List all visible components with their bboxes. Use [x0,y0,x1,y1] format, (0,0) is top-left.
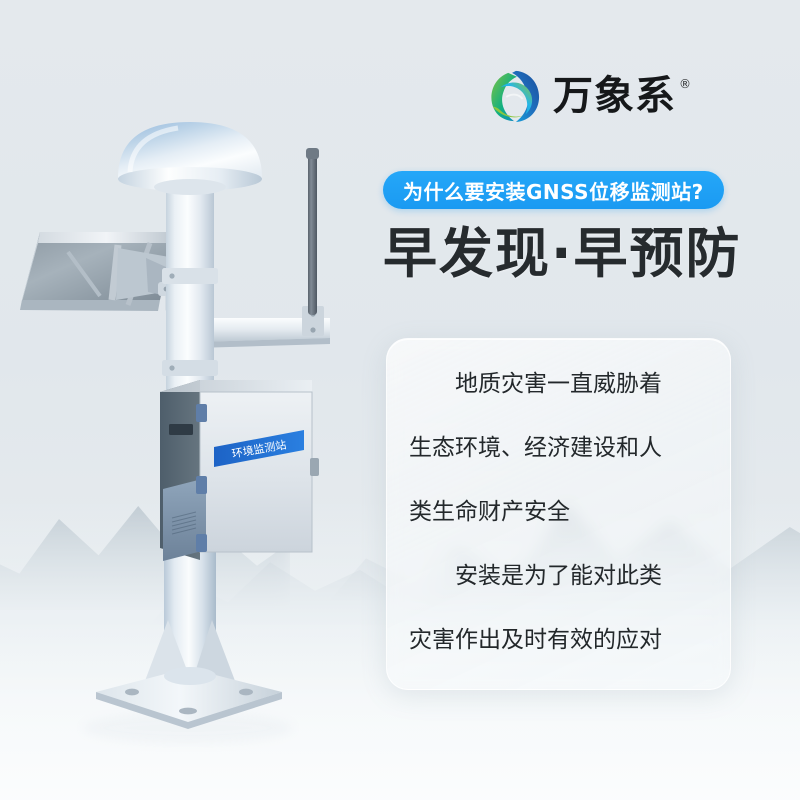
globe-swirl-icon [487,68,541,124]
device-illustration: 环境监测站 [0,0,400,800]
main-headline: 早发现·早预防 [383,224,742,284]
brand-logo: 万象系 ® [487,68,691,124]
hinge-top [196,404,207,422]
description-line-1: 地质灾害一直威胁着 [409,373,708,396]
description-line-2: 生态环境、经济建设和人 [409,437,708,460]
cable-slot [169,424,193,435]
question-badge-text: 为什么要安装GNSS位移监测站? [403,176,704,205]
description-line-5: 灾害作出及时有效的应对 [409,629,708,652]
description-line-4: 安装是为了能对此类 [409,565,708,588]
description-line-3: 类生命财产安全 [409,501,708,524]
poster-root: 环境监测站 [0,0,800,800]
question-badge[interactable]: 为什么要安装GNSS位移监测站? [383,171,724,209]
registered-trademark-icon: ® [679,77,691,91]
description-panel: 地质灾害一直威胁着 生态环境、经济建设和人 类生命财产安全 安装是为了能对此类 … [386,338,731,690]
logo-wordmark: 万象系 [553,76,676,116]
gnss-dome-antenna [118,122,262,195]
whip-antenna-rod [308,150,317,315]
hinge-bottom [196,534,207,552]
control-enclosure: 环境监测站 [160,380,319,561]
latch [310,458,319,476]
hinge-mid [196,476,207,494]
